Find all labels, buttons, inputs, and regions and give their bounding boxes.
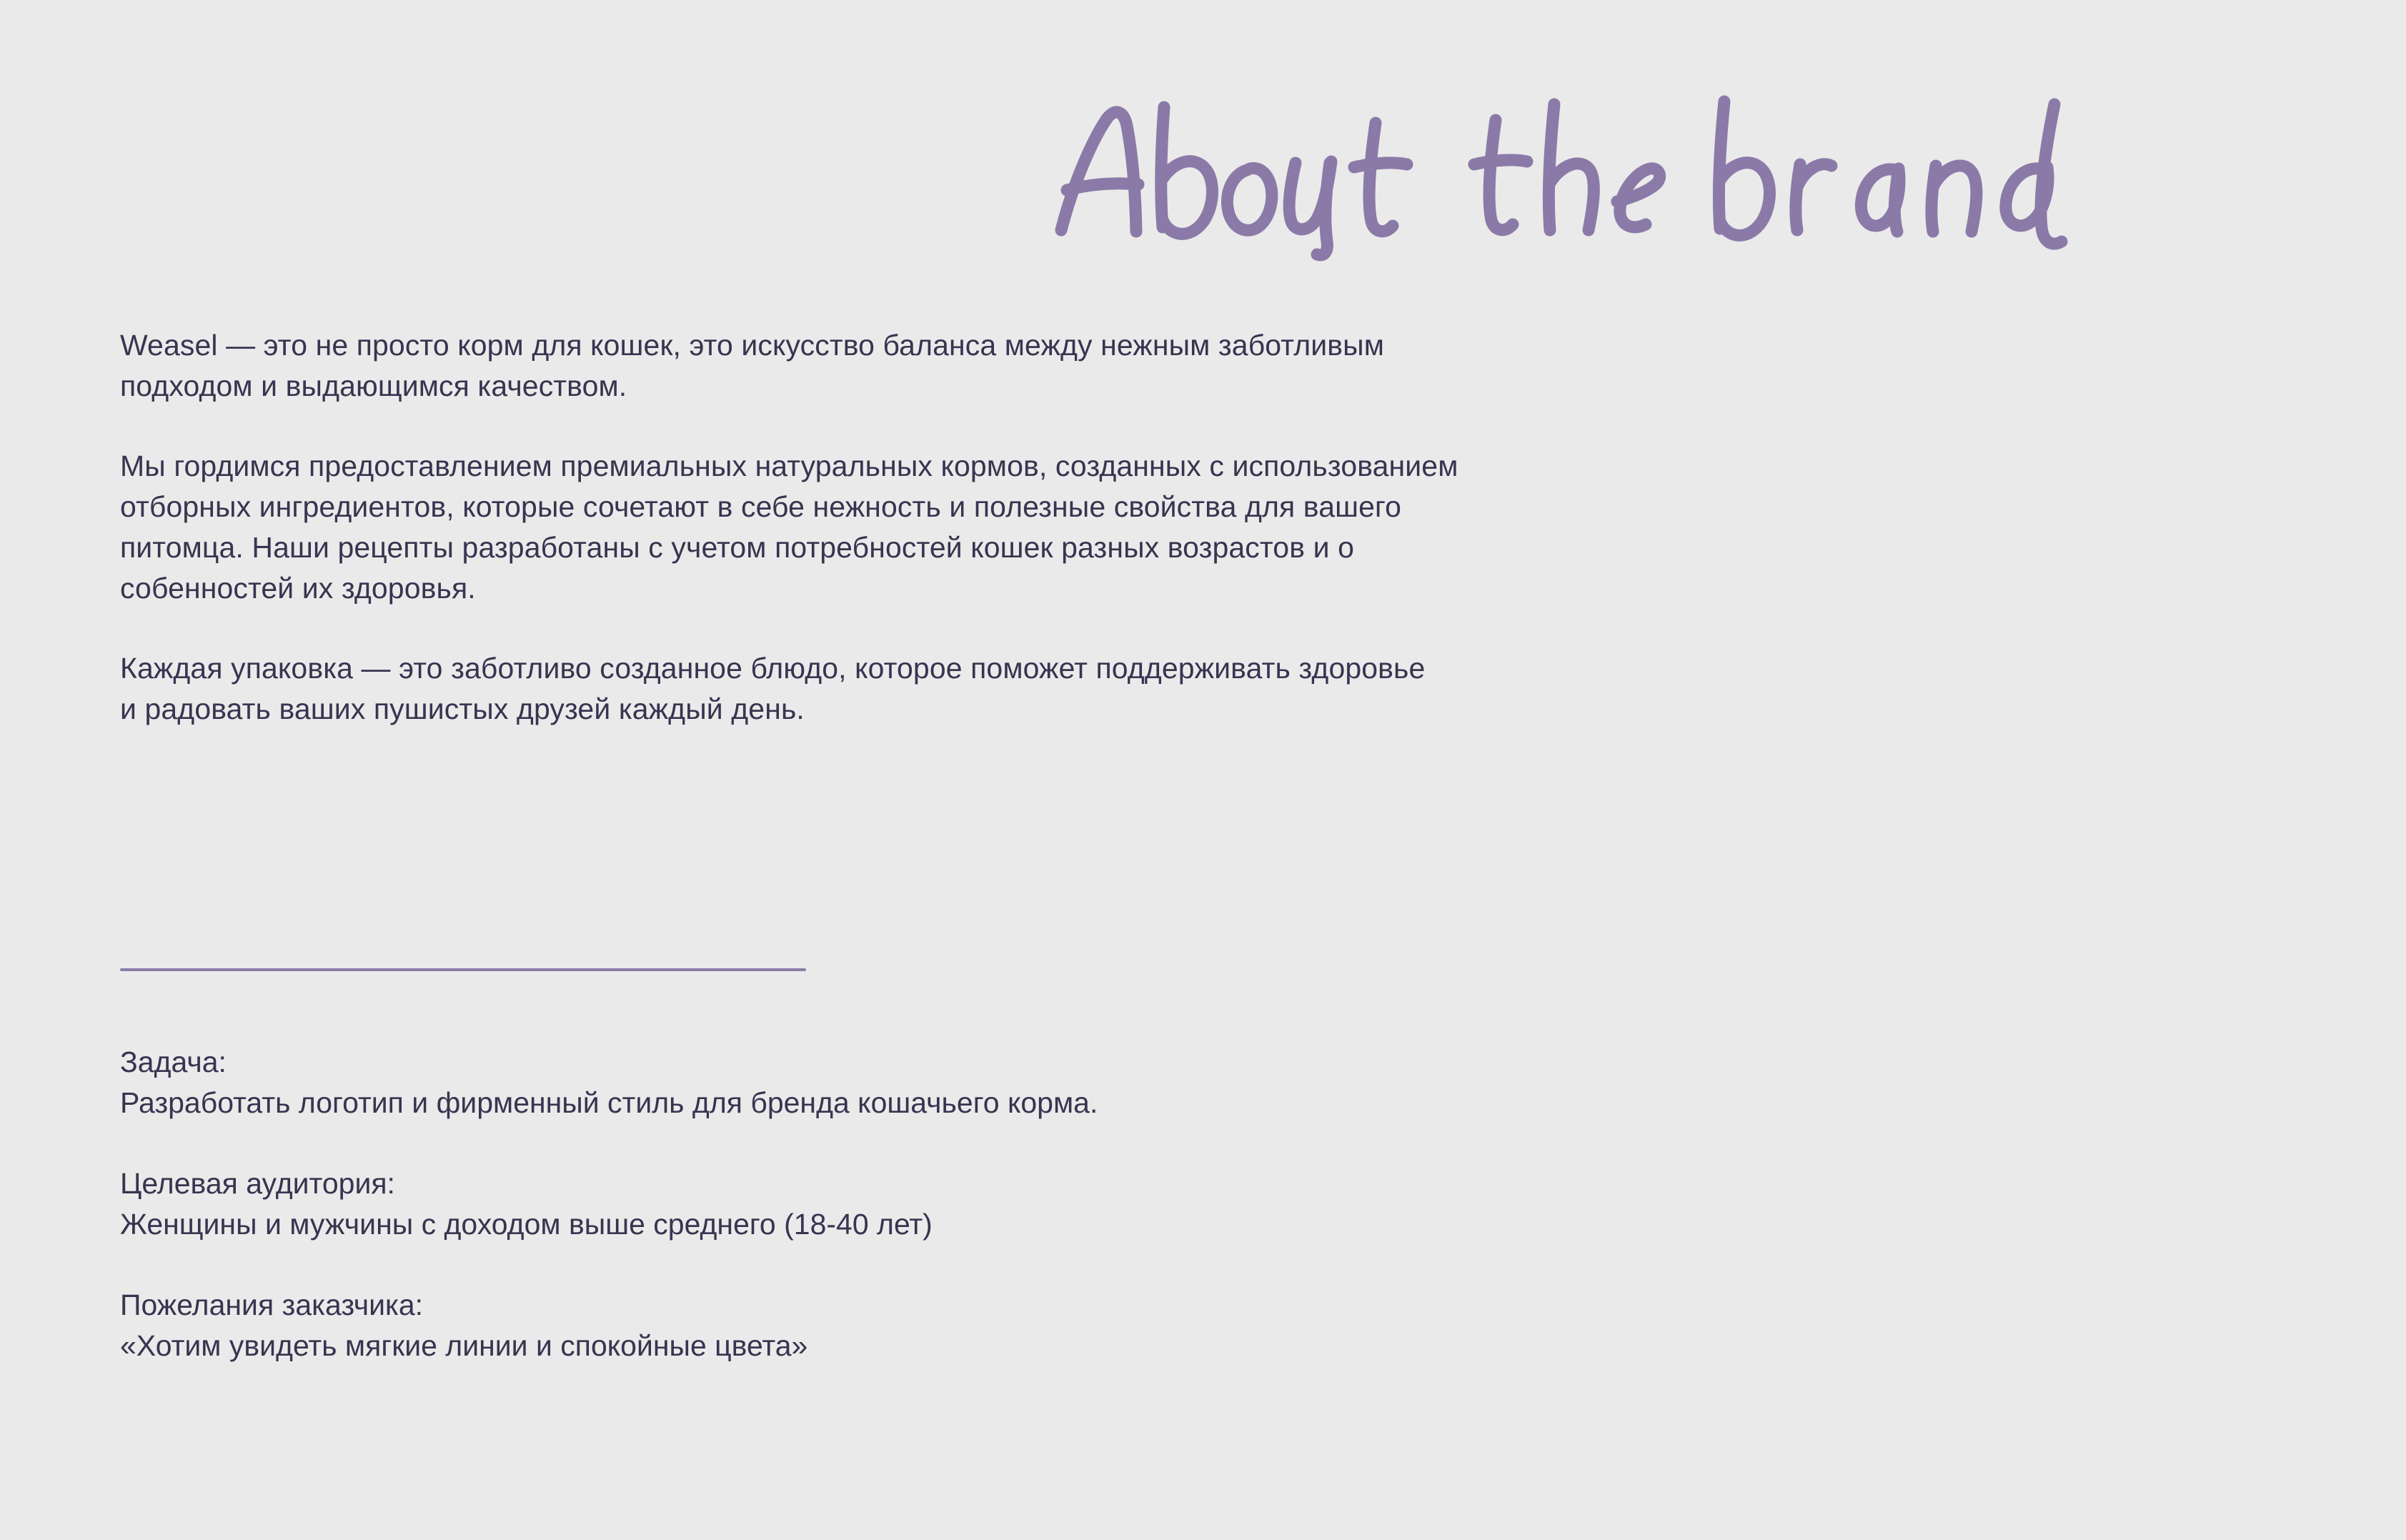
slide-canvas: About the brand (0, 0, 2406, 1540)
brief-task-value: Разработать логотип и фирменный стиль дл… (120, 1083, 2307, 1123)
page-title-script: About the brand (1041, 79, 2299, 257)
brief-block: Задача: Разработать логотип и фирменный … (120, 1042, 2307, 1366)
brief-wishes-label: Пожелания заказчика: (120, 1285, 2307, 1326)
page-title: About the brand (1013, 79, 2299, 264)
brief-audience-label: Целевая аудитория: (120, 1163, 2307, 1204)
brief-wishes: Пожелания заказчика: «Хотим увидеть мягк… (120, 1285, 2307, 1366)
intro-paragraph-2: Мы гордимся предоставлением премиальных … (120, 446, 2307, 609)
brief-task: Задача: Разработать логотип и фирменный … (120, 1042, 2307, 1123)
divider-rule (120, 968, 806, 971)
intro-copy: Weasel — это не просто корм для кошек, э… (120, 325, 2307, 730)
intro-paragraph-3: Каждая упаковка — это заботливо созданно… (120, 648, 2307, 730)
intro-paragraph-1: Weasel — это не просто корм для кошек, э… (120, 325, 2307, 407)
brief-audience: Целевая аудитория: Женщины и мужчины с д… (120, 1163, 2307, 1245)
brief-wishes-value: «Хотим увидеть мягкие линии и спокойные … (120, 1326, 2307, 1366)
brief-audience-value: Женщины и мужчины с доходом выше среднег… (120, 1204, 2307, 1245)
brief-task-label: Задача: (120, 1042, 2307, 1083)
section-divider (120, 968, 806, 971)
